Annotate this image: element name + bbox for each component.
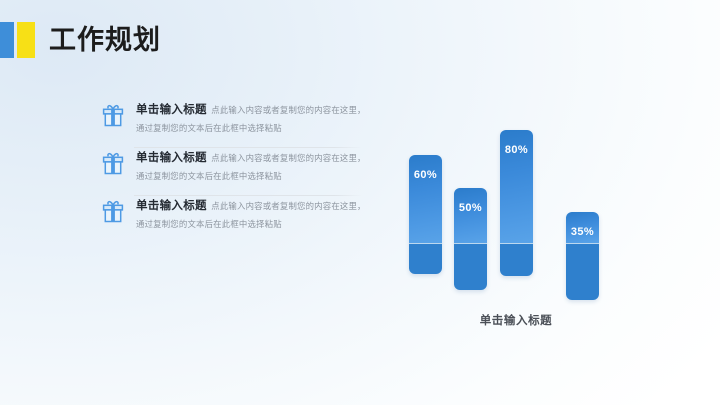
chart-title: 单击输入标题 xyxy=(396,312,636,328)
feature-text-group: 单击输入标题 点此输入内容或者复制您的内容在这里，通过复制您的文本后在此框中选择… xyxy=(136,100,368,136)
bar-value-label-2: 50% xyxy=(454,202,487,214)
title-accent-yellow-bar xyxy=(17,22,35,58)
bar-value-label-1: 60% xyxy=(409,169,442,181)
feature-text-group: 单击输入标题 点此输入内容或者复制您的内容在这里，通过复制您的文本后在此框中选择… xyxy=(136,196,368,232)
gift-icon xyxy=(100,199,126,225)
list-item[interactable]: 单击输入标题 点此输入内容或者复制您的内容在这里，通过复制您的文本后在此框中选择… xyxy=(100,148,368,195)
list-item[interactable]: 单击输入标题 点此输入内容或者复制您的内容在这里，通过复制您的文本后在此框中选择… xyxy=(100,100,368,147)
bar-chart: 60%50%80%35% 单击输入标题 xyxy=(396,110,636,340)
bar-value-label-3: 80% xyxy=(500,144,533,156)
slide-canvas: 工作规划 单击输入标题 点此输入内容或者复制您的内容在这里，通过复制您的文本后在… xyxy=(0,0,720,405)
feature-title: 单击输入标题 xyxy=(136,152,207,164)
bar-segment-upper xyxy=(454,188,487,244)
page-title: 工作规划 xyxy=(49,22,161,58)
slide-header: 工作规划 xyxy=(0,18,161,62)
bar-value-label-4: 35% xyxy=(566,226,599,238)
feature-text-group: 单击输入标题 点此输入内容或者复制您的内容在这里，通过复制您的文本后在此框中选择… xyxy=(136,148,368,184)
gift-icon xyxy=(100,151,126,177)
feature-title: 单击输入标题 xyxy=(136,200,207,212)
bar-segment-lower xyxy=(454,244,487,290)
title-accent-blue-bar xyxy=(0,22,14,58)
bar-chart-plot-area: 60%50%80%35% xyxy=(396,110,636,306)
list-item[interactable]: 单击输入标题 点此输入内容或者复制您的内容在这里，通过复制您的文本后在此框中选择… xyxy=(100,196,368,243)
feature-list: 单击输入标题 点此输入内容或者复制您的内容在这里，通过复制您的文本后在此框中选择… xyxy=(100,100,368,243)
bar-segment-lower xyxy=(500,244,533,276)
gift-icon xyxy=(100,103,126,129)
feature-title: 单击输入标题 xyxy=(136,104,207,116)
bar-segment-lower xyxy=(409,244,442,274)
bar-segment-lower xyxy=(566,244,599,300)
